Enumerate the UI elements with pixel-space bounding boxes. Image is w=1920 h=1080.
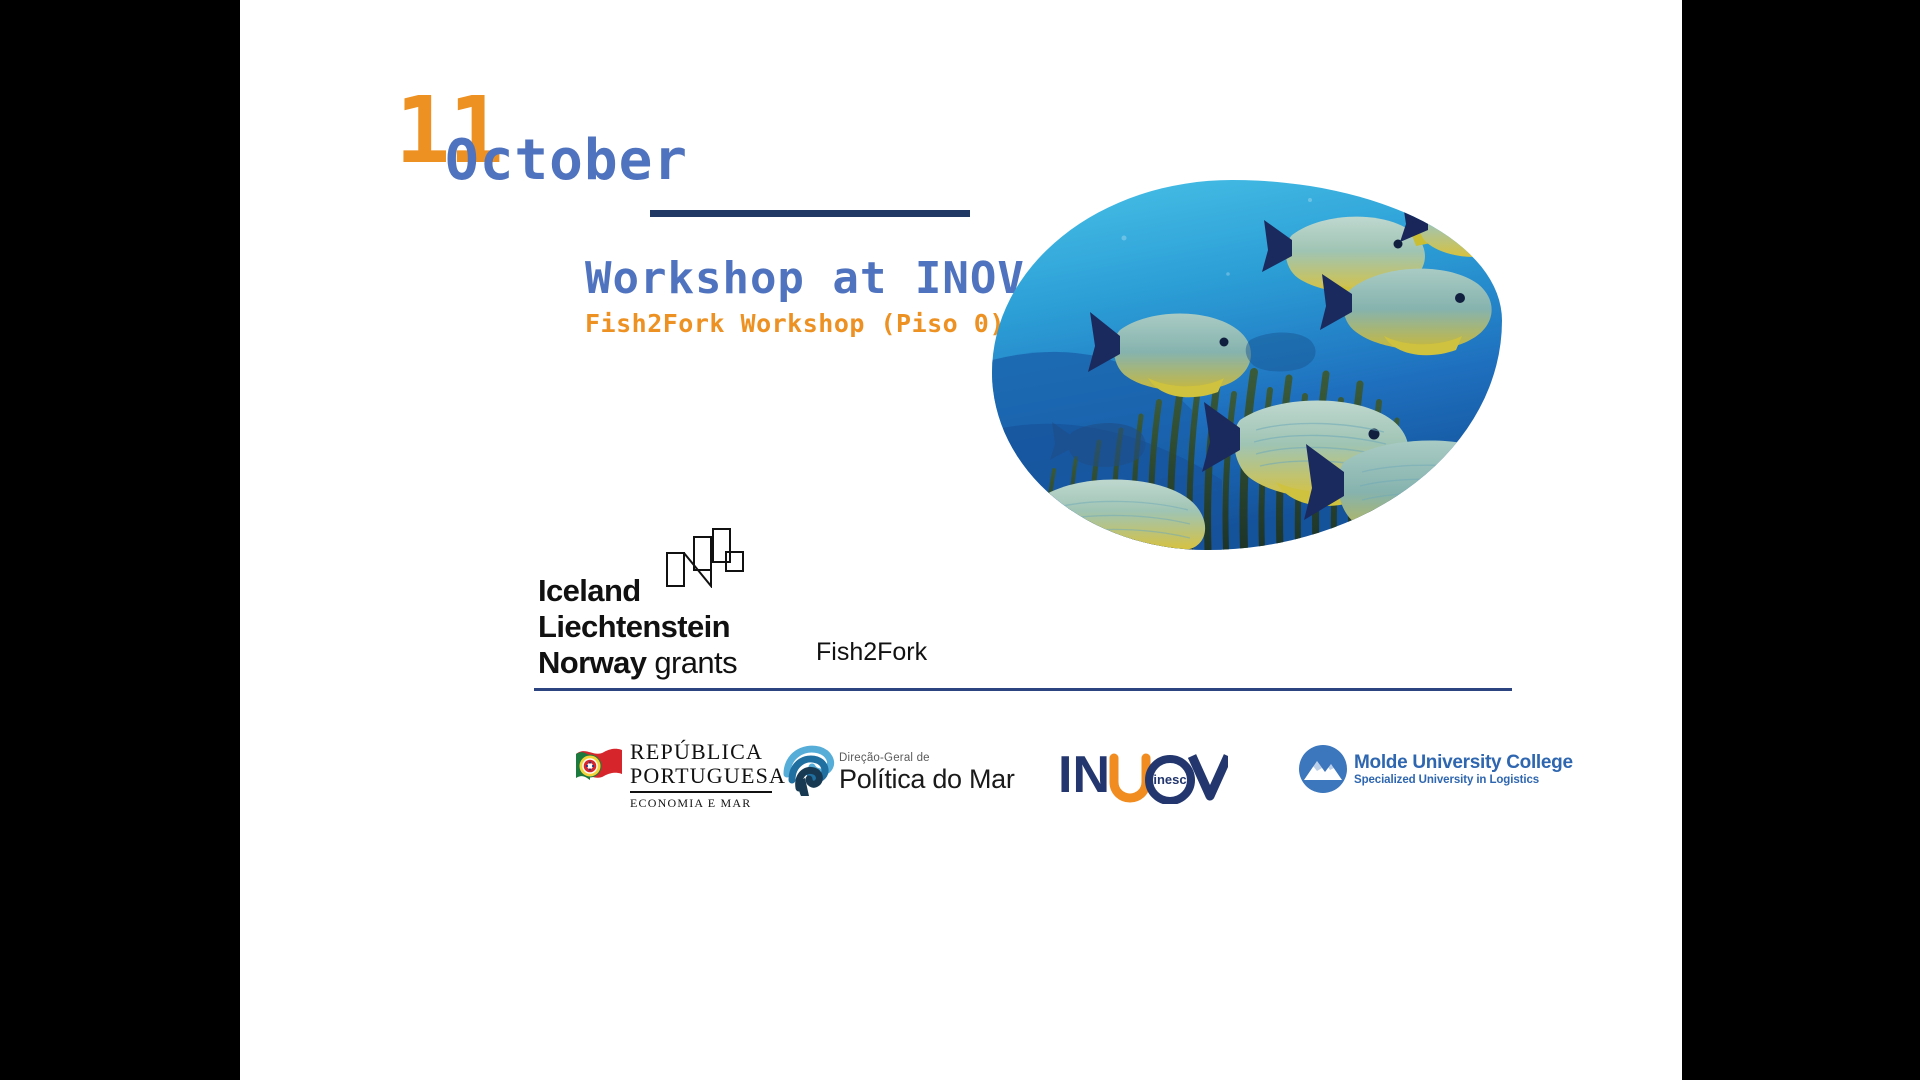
rp-line-economia-e-mar: ECONOMIA E MAR (630, 796, 786, 811)
rp-line-portuguesa: PORTUGUESA (630, 764, 786, 788)
iceland-liechtenstein-norway-grants-logo: Iceland Liechtenstein Norway grants (538, 530, 753, 665)
footer-divider-rule (534, 688, 1512, 691)
grants-line-iceland: Iceland (538, 573, 737, 609)
event-date: 11 October (395, 85, 895, 205)
letterbox-bar-left (0, 0, 240, 1080)
inov-letters-in: IN (1058, 748, 1110, 804)
page-subtitle: Fish2Fork Workshop (Piso 0) (585, 308, 1005, 340)
rp-rule (630, 791, 772, 793)
republica-portuguesa-wordmark: REPÚBLICA PORTUGUESA ECONOMIA E MAR (630, 740, 786, 811)
rp-line-republica: REPÚBLICA (630, 740, 786, 764)
grants-line-liechtenstein: Liechtenstein (538, 609, 737, 645)
footer-logo-row: REPÚBLICA PORTUGUESA ECONOMIA E MAR (534, 730, 1512, 830)
molde-line-tagline: Specialized University in Logistics (1354, 773, 1573, 787)
dgpm-line-politica-do-mar: Política do Mar (839, 764, 1015, 794)
letterbox-bar-right (1682, 0, 1920, 1080)
grants-wordmark: Iceland Liechtenstein Norway grants (538, 573, 737, 681)
grants-norway-text: Norway (538, 645, 646, 680)
grants-grants-text: grants (654, 645, 737, 680)
fish2fork-project-mark: Fish2Fork (816, 638, 927, 667)
molde-mountain-icon (1298, 744, 1348, 794)
title-divider-rule (650, 210, 970, 217)
dgpm-wordmark: Direção-Geral de Política do Mar (839, 752, 1015, 794)
logo-republica-portuguesa: REPÚBLICA PORTUGUESA ECONOMIA E MAR (572, 740, 787, 810)
underwater-fish-image (992, 180, 1502, 550)
page-title: Workshop at INOV (585, 252, 1025, 306)
logo-inov-inesc: IN inesc (1058, 748, 1228, 804)
inov-inner-label: inesc (1153, 772, 1186, 787)
wave-spiral-icon (781, 744, 837, 802)
slide-stage: 11 October Workshop at INOV Fish2Fork Wo… (0, 0, 1920, 1080)
logo-molde-university-college: Molde University College Specialized Uni… (1298, 744, 1528, 806)
grants-line-norway-grants: Norway grants (538, 645, 737, 681)
portugal-flag-icon (572, 744, 624, 796)
dgpm-line-direcao-geral: Direção-Geral de (839, 752, 1015, 764)
date-month: October (445, 133, 688, 189)
molde-wordmark: Molde University College Specialized Uni… (1354, 752, 1573, 787)
presentation-slide: 11 October Workshop at INOV Fish2Fork Wo… (240, 0, 1682, 1080)
logo-direcao-geral-politica-do-mar: Direção-Geral de Política do Mar (781, 742, 1011, 812)
molde-line-name: Molde University College (1354, 752, 1573, 773)
